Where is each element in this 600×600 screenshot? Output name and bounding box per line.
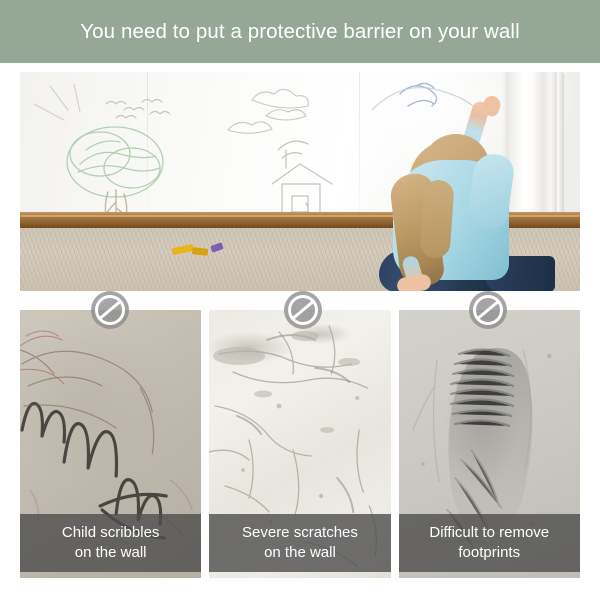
caption-line-1: Difficult to remove bbox=[429, 523, 549, 543]
panel-caption: Severe scratches on the wall bbox=[209, 514, 390, 572]
prohibition-icon bbox=[90, 290, 130, 330]
girl-figure bbox=[375, 106, 560, 291]
caption-line-2: on the wall bbox=[264, 543, 336, 563]
header-banner: You need to put a protective barrier on … bbox=[0, 0, 600, 63]
girl-ponytail bbox=[419, 179, 454, 259]
panel-caption: Difficult to remove footprints bbox=[399, 514, 580, 572]
page-title: You need to put a protective barrier on … bbox=[80, 20, 519, 44]
panel-child-scribbles[interactable]: Child scribbles on the wall bbox=[20, 310, 201, 578]
problem-panels: Child scribbles on the wall bbox=[20, 310, 580, 578]
hero-photo bbox=[20, 72, 580, 291]
prohibition-icon bbox=[283, 290, 323, 330]
caption-line-2: footprints bbox=[458, 543, 520, 563]
prohibition-icon bbox=[468, 290, 508, 330]
panel-severe-scratches[interactable]: Severe scratches on the wall bbox=[209, 310, 390, 578]
caption-line-1: Child scribbles bbox=[62, 523, 160, 543]
promo-page: You need to put a protective barrier on … bbox=[0, 0, 600, 600]
caption-line-2: on the wall bbox=[75, 543, 147, 563]
panel-difficult-footprints[interactable]: Difficult to remove footprints bbox=[399, 310, 580, 578]
caption-line-1: Severe scratches bbox=[242, 523, 358, 543]
panel-caption: Child scribbles on the wall bbox=[20, 514, 201, 572]
